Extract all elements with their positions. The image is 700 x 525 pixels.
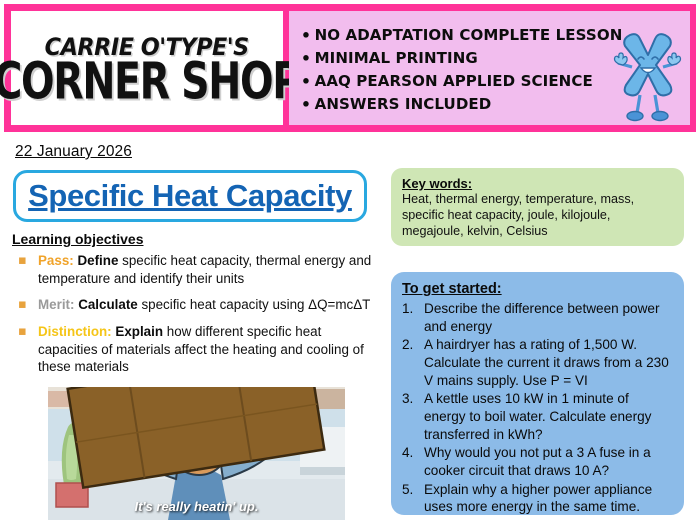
question-text: Why would you not put a 3 A fuse in a co… bbox=[424, 444, 674, 479]
question-number: 3. bbox=[402, 390, 424, 408]
learning-objectives-list: ▪ Pass: Define specific heat capacity, t… bbox=[12, 252, 377, 385]
page-title: Specific Heat Capacity bbox=[28, 178, 352, 214]
question-number: 4. bbox=[402, 444, 424, 462]
objective-level-label: Pass: bbox=[38, 253, 74, 268]
objective-body: specific heat capacity using ΔQ=mcΔT bbox=[138, 297, 371, 312]
objective-text: Distinction: Explain how different speci… bbox=[38, 323, 377, 376]
objective-verb: Explain bbox=[115, 324, 163, 339]
to-get-started-heading: To get started: bbox=[402, 281, 674, 297]
question-item: 2. A hairdryer has a rating of 1,500 W. … bbox=[402, 336, 674, 389]
brand-name-bottom: CORNER SHOP bbox=[0, 60, 300, 107]
key-words-heading: Key words: bbox=[402, 176, 673, 191]
bullet-icon: • bbox=[301, 93, 315, 116]
question-item: 5. Explain why a higher power appliance … bbox=[402, 481, 674, 516]
to-get-started-box: To get started: 1. Describe the differen… bbox=[391, 272, 684, 515]
question-item: 4. Why would you not put a 3 A fuse in a… bbox=[402, 444, 674, 479]
cartoon-illustration: It's really heatin' up. bbox=[48, 387, 345, 520]
brand-logo-box: CARRIE O'TYPE'S CORNER SHOP bbox=[11, 11, 283, 125]
bullet-icon: ▪ bbox=[12, 323, 38, 340]
feature-label: MINIMAL PRINTING bbox=[315, 47, 478, 69]
question-item: 1. Describe the difference between power… bbox=[402, 300, 674, 335]
feature-label: ANSWERS INCLUDED bbox=[315, 93, 492, 115]
objective-level-label: Merit: bbox=[38, 297, 74, 312]
bullet-icon: ▪ bbox=[12, 252, 38, 269]
objective-text: Merit: Calculate specific heat capacity … bbox=[38, 296, 377, 314]
bullet-icon: • bbox=[301, 70, 315, 93]
key-words-body: Heat, thermal energy, temperature, mass,… bbox=[402, 192, 673, 240]
objective-item-distinction: ▪ Distinction: Explain how different spe… bbox=[12, 323, 377, 376]
objective-item-pass: ▪ Pass: Define specific heat capacity, t… bbox=[12, 252, 377, 287]
objective-verb: Define bbox=[77, 253, 118, 268]
question-number: 2. bbox=[402, 336, 424, 354]
question-text: A hairdryer has a rating of 1,500 W. Cal… bbox=[424, 336, 674, 389]
question-number: 5. bbox=[402, 481, 424, 499]
learning-objectives-heading: Learning objectives bbox=[12, 231, 143, 247]
feature-list-box: • NO ADAPTATION COMPLETE LESSON • MINIMA… bbox=[289, 11, 690, 125]
feature-label: AAQ PEARSON APPLIED SCIENCE bbox=[315, 70, 593, 92]
objective-text: Pass: Define specific heat capacity, the… bbox=[38, 252, 377, 287]
bullet-icon: • bbox=[301, 47, 315, 70]
cartoon-caption: It's really heatin' up. bbox=[48, 499, 345, 514]
key-words-box: Key words: Heat, thermal energy, tempera… bbox=[391, 168, 684, 246]
objective-level-label: Distinction: bbox=[38, 324, 112, 339]
lesson-title-box: Specific Heat Capacity bbox=[13, 170, 367, 222]
question-number: 1. bbox=[402, 300, 424, 318]
objective-verb: Calculate bbox=[78, 297, 138, 312]
question-text: Explain why a higher power appliance use… bbox=[424, 481, 674, 516]
question-text: A kettle uses 10 kW in 1 minute of energ… bbox=[424, 390, 674, 443]
feature-label: NO ADAPTATION COMPLETE LESSON bbox=[315, 24, 623, 46]
bullet-icon: • bbox=[301, 24, 315, 47]
header-banner: CARRIE O'TYPE'S CORNER SHOP • NO ADAPTAT… bbox=[4, 4, 696, 132]
bullet-icon: ▪ bbox=[12, 296, 38, 313]
question-item: 3. A kettle uses 10 kW in 1 minute of en… bbox=[402, 390, 674, 443]
question-text: Describe the difference between power an… bbox=[424, 300, 674, 335]
lesson-date: 22 January 2026 bbox=[15, 143, 132, 161]
x-character-mascot-icon bbox=[608, 23, 686, 125]
objective-item-merit: ▪ Merit: Calculate specific heat capacit… bbox=[12, 296, 377, 314]
